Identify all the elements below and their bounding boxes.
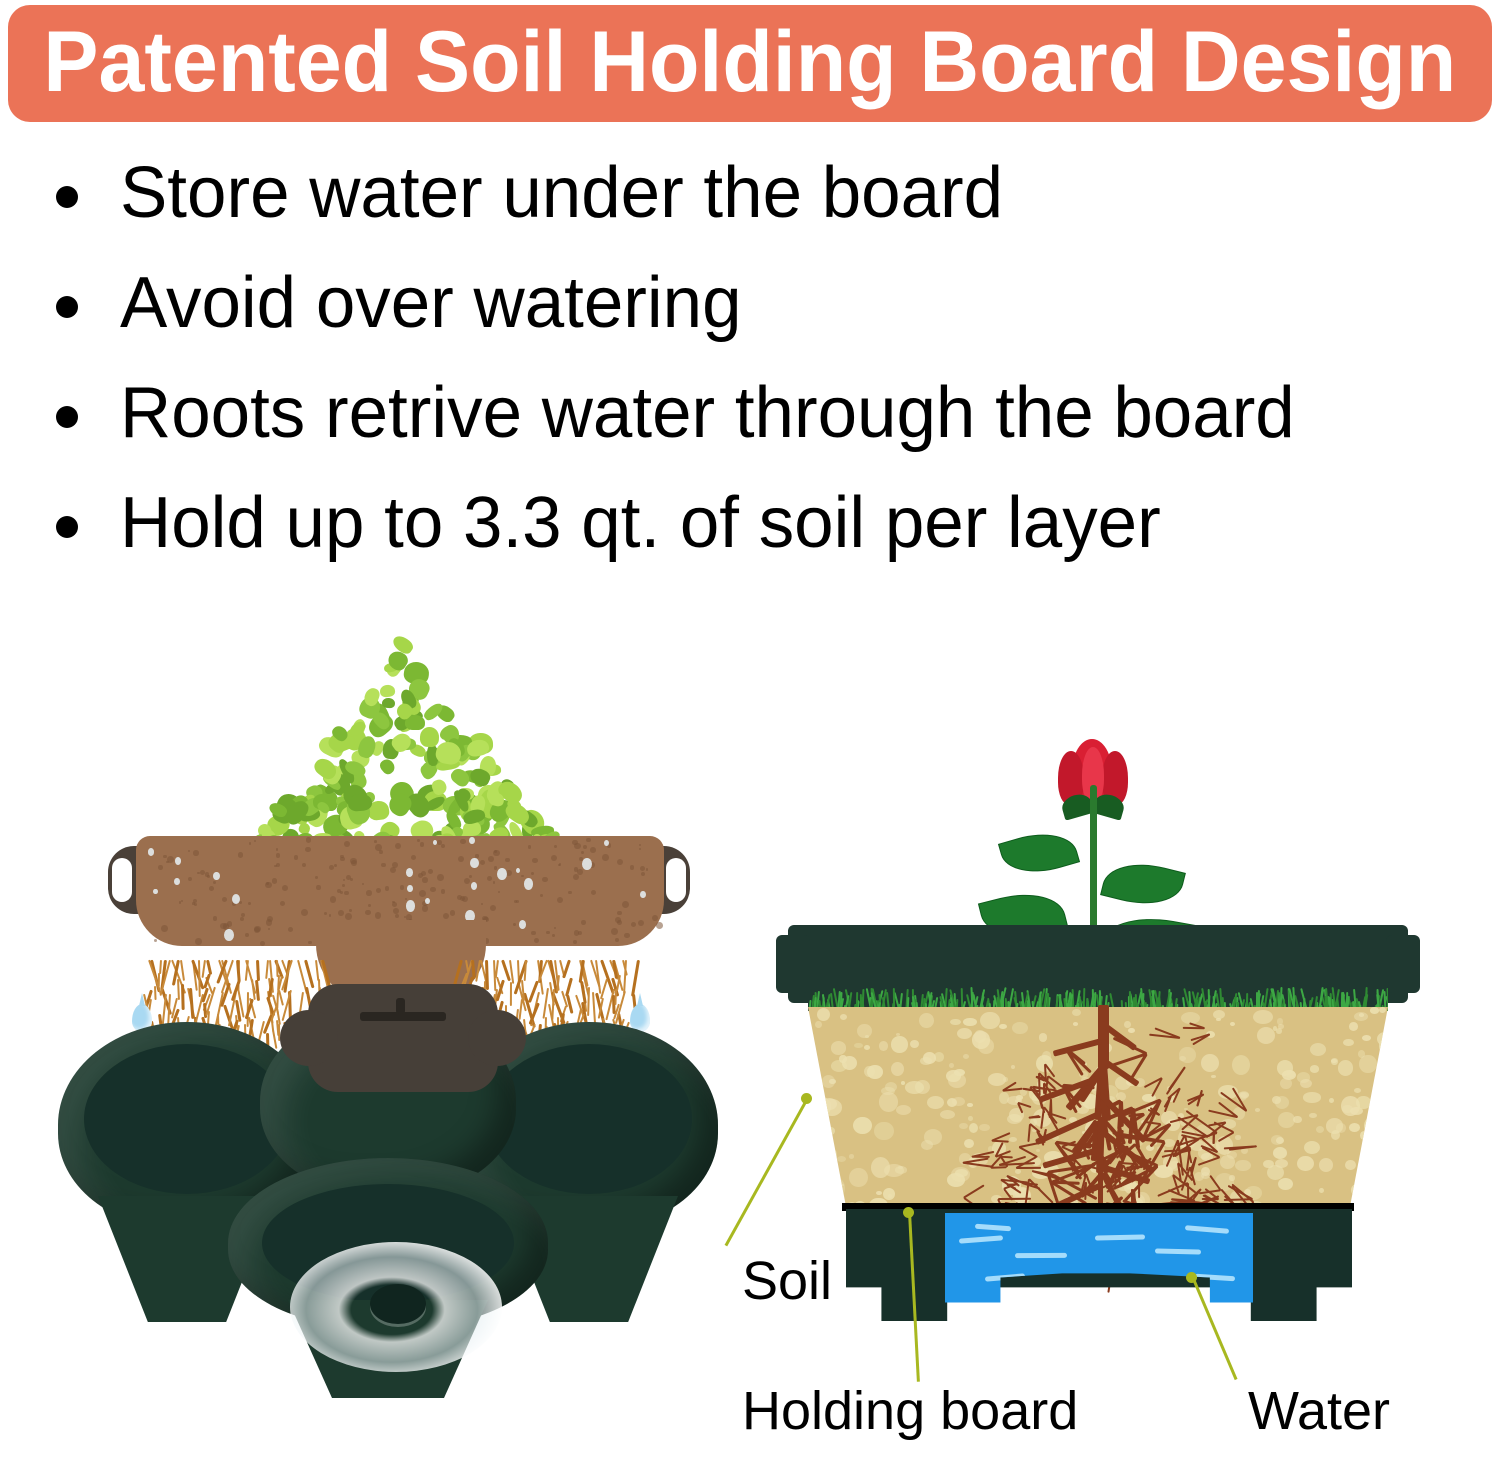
bullet-label: Store water under the board — [120, 152, 1003, 236]
bullet-dot-icon — [56, 406, 78, 428]
product-photo-stacking-planter — [30, 608, 750, 1398]
rose-leaf — [1100, 854, 1186, 914]
list-item: Roots retrive water through the board — [56, 372, 1456, 482]
header-banner: Patented Soil Holding Board Design — [8, 5, 1492, 122]
label-holding-board: Holding board — [742, 1380, 1078, 1442]
bullet-dot-icon — [56, 186, 78, 208]
bullet-label: Roots retrive water through the board — [120, 372, 1295, 456]
soil-on-board — [136, 836, 664, 946]
stacking-planter-graphic — [58, 1006, 718, 1398]
water-reservoir — [945, 1213, 1253, 1317]
label-water: Water — [1248, 1380, 1390, 1442]
label-soil: Soil — [742, 1250, 832, 1312]
list-item: Store water under the board — [56, 152, 1456, 262]
rose-leaf — [998, 824, 1080, 883]
infographic-canvas: Patented Soil Holding Board Design Store… — [0, 0, 1500, 1459]
bullet-dot-icon — [56, 296, 78, 318]
page-title: Patented Soil Holding Board Design — [44, 19, 1457, 105]
bullet-label: Hold up to 3.3 qt. of soil per layer — [120, 482, 1161, 566]
drainage-hole — [370, 1284, 426, 1324]
feature-bullet-list: Store water under the board Avoid over w… — [56, 152, 1456, 592]
bullet-label: Avoid over watering — [120, 262, 742, 346]
list-item: Avoid over watering — [56, 262, 1456, 372]
bullet-dot-icon — [56, 516, 78, 538]
cross-section-diagram — [770, 735, 1430, 1335]
list-item: Hold up to 3.3 qt. of soil per layer — [56, 482, 1456, 592]
holding-board-plate-graphic — [308, 984, 498, 1092]
